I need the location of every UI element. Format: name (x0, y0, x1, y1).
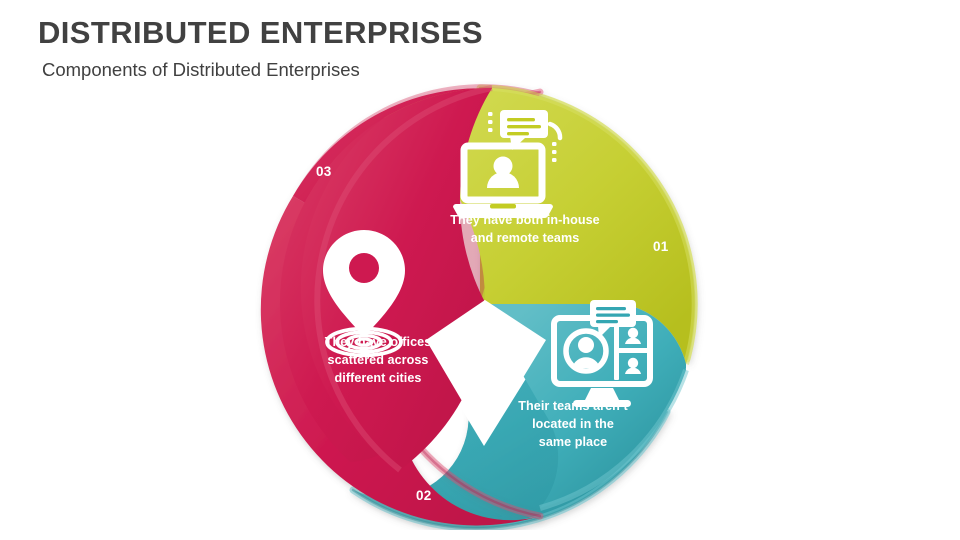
segment-teal-number: 02 (416, 488, 432, 503)
segment-crimson-number: 03 (316, 164, 332, 179)
segment-teal-label: Their teams aren’t located in the same p… (483, 398, 663, 452)
pinwheel-diagram: They have both in-house and remote teams… (240, 78, 720, 530)
segment-crimson-label: They have offices scattered across diffe… (288, 334, 468, 388)
segment-green-label: They have both in-house and remote teams (420, 212, 630, 248)
page-title: DISTRIBUTED ENTERPRISES (38, 16, 598, 50)
pinwheel-svg (240, 78, 720, 530)
segment-green-number: 01 (653, 239, 669, 254)
page-header: DISTRIBUTED ENTERPRISES Components of Di… (38, 16, 598, 80)
